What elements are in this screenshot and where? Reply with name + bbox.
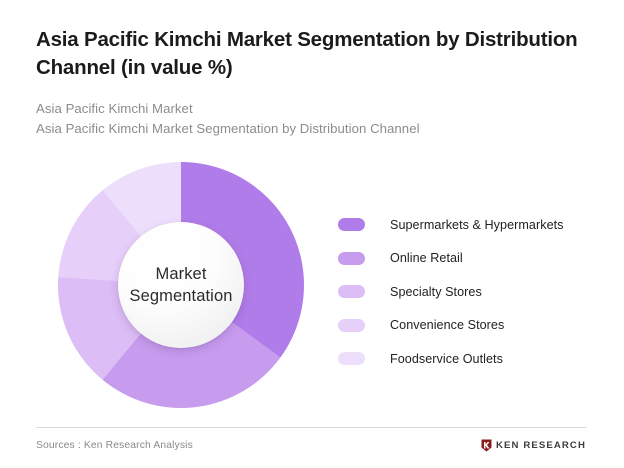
legend-swatch-icon <box>338 285 365 298</box>
donut-center-label-line1: Market <box>155 265 206 283</box>
chart-area: Market Segmentation Supermarkets & Hyper… <box>36 160 588 412</box>
legend-item[interactable]: Supermarkets & Hypermarkets <box>338 208 588 242</box>
legend-label: Online Retail <box>390 251 463 265</box>
header: Asia Pacific Kimchi Market Segmentation … <box>36 26 586 139</box>
subtitle-group: Asia Pacific Kimchi Market Asia Pacific … <box>36 99 586 139</box>
legend-label: Specialty Stores <box>390 285 482 299</box>
legend-label: Supermarkets & Hypermarkets <box>390 218 564 232</box>
source-note: Sources : Ken Research Analysis <box>36 440 193 451</box>
subtitle-line-1: Asia Pacific Kimchi Market <box>36 99 586 119</box>
legend-item[interactable]: Convenience Stores <box>338 309 588 343</box>
brand-name: KEN RESEARCH <box>496 440 586 451</box>
footer: Sources : Ken Research Analysis KEN RESE… <box>36 434 586 456</box>
subtitle-line-2: Asia Pacific Kimchi Market Segmentation … <box>36 119 586 139</box>
legend-item[interactable]: Online Retail <box>338 242 588 276</box>
donut-center: Market Segmentation <box>118 222 244 348</box>
legend-swatch-icon <box>338 252 365 265</box>
legend-item[interactable]: Foodservice Outlets <box>338 342 588 376</box>
chart-legend: Supermarkets & HypermarketsOnline Retail… <box>338 208 588 376</box>
legend-label: Foodservice Outlets <box>390 352 503 366</box>
donut-chart: Market Segmentation <box>58 162 304 408</box>
ken-research-shield-icon <box>481 439 492 452</box>
legend-swatch-icon <box>338 319 365 332</box>
donut-center-label: Market Segmentation <box>119 263 242 308</box>
brand-logo: KEN RESEARCH <box>481 439 586 452</box>
legend-label: Convenience Stores <box>390 318 504 332</box>
legend-swatch-icon <box>338 218 365 231</box>
footer-divider <box>36 427 586 428</box>
donut-center-label-line2: Segmentation <box>129 287 232 305</box>
legend-swatch-icon <box>338 352 365 365</box>
legend-item[interactable]: Specialty Stores <box>338 275 588 309</box>
slide-canvas: Asia Pacific Kimchi Market Segmentation … <box>0 0 624 468</box>
page-title: Asia Pacific Kimchi Market Segmentation … <box>36 26 586 83</box>
